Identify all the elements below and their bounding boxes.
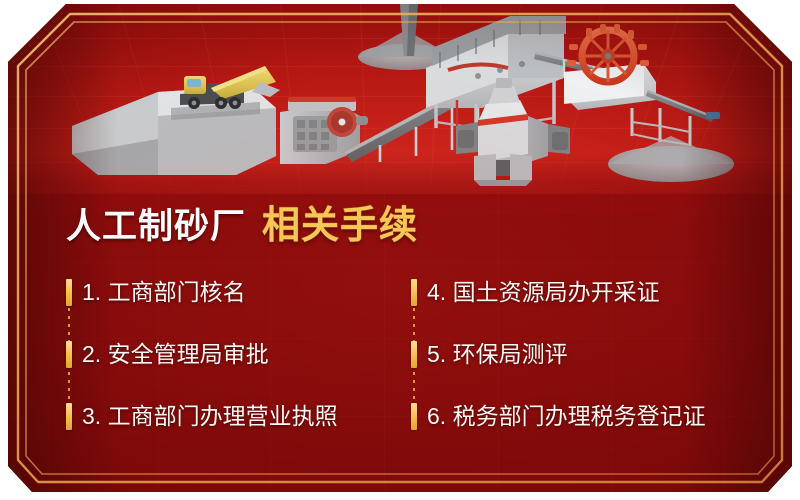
- list-item-text: 2. 安全管理局审批: [82, 334, 269, 375]
- list-item-text: 1. 工商部门核名: [82, 272, 246, 313]
- list-marker-bar: [411, 279, 417, 306]
- list-marker-bar: [66, 279, 72, 306]
- procedure-column-right: 4. 国土资源局办开采证 5. 环保局测评 6. 税务部门办理税务登记证: [411, 272, 756, 458]
- procedure-column-left: 1. 工商部门核名 2. 安全管理局审批 3. 工商部门办理营业执照: [66, 272, 411, 458]
- procedure-list: 1. 工商部门核名 2. 安全管理局审批 3. 工商部门办理营业执照 4. 国土…: [66, 272, 756, 462]
- list-item-text: 3. 工商部门办理营业执照: [82, 396, 338, 437]
- list-item[interactable]: 6. 税务部门办理税务登记证: [411, 396, 756, 458]
- list-item-text: 6. 税务部门办理税务登记证: [427, 396, 706, 437]
- list-item-text: 4. 国土资源局办开采证: [427, 272, 660, 313]
- list-marker-bar: [411, 403, 417, 430]
- list-item-text: 5. 环保局测评: [427, 334, 568, 375]
- title-gold-part: 相关手续: [262, 205, 418, 247]
- list-item[interactable]: 1. 工商部门核名: [66, 272, 411, 334]
- list-item[interactable]: 5. 环保局测评: [411, 334, 756, 396]
- list-item[interactable]: 4. 国土资源局办开采证: [411, 272, 756, 334]
- list-marker-bar: [411, 341, 417, 368]
- list-item[interactable]: 2. 安全管理局审批: [66, 334, 411, 396]
- list-item[interactable]: 3. 工商部门办理营业执照: [66, 396, 411, 458]
- banner-card: 人工制砂厂相关手续 1. 工商部门核名 2. 安全管理局审批 3. 工商部门办理…: [8, 4, 792, 492]
- list-marker-bar: [66, 341, 72, 368]
- list-marker-bar: [66, 403, 72, 430]
- title-white-part: 人工制砂厂: [66, 207, 246, 246]
- sand-plant-procedure-banner: 人工制砂厂相关手续 1. 工商部门核名 2. 安全管理局审批 3. 工商部门办理…: [0, 0, 800, 500]
- page-title: 人工制砂厂相关手续: [66, 203, 418, 250]
